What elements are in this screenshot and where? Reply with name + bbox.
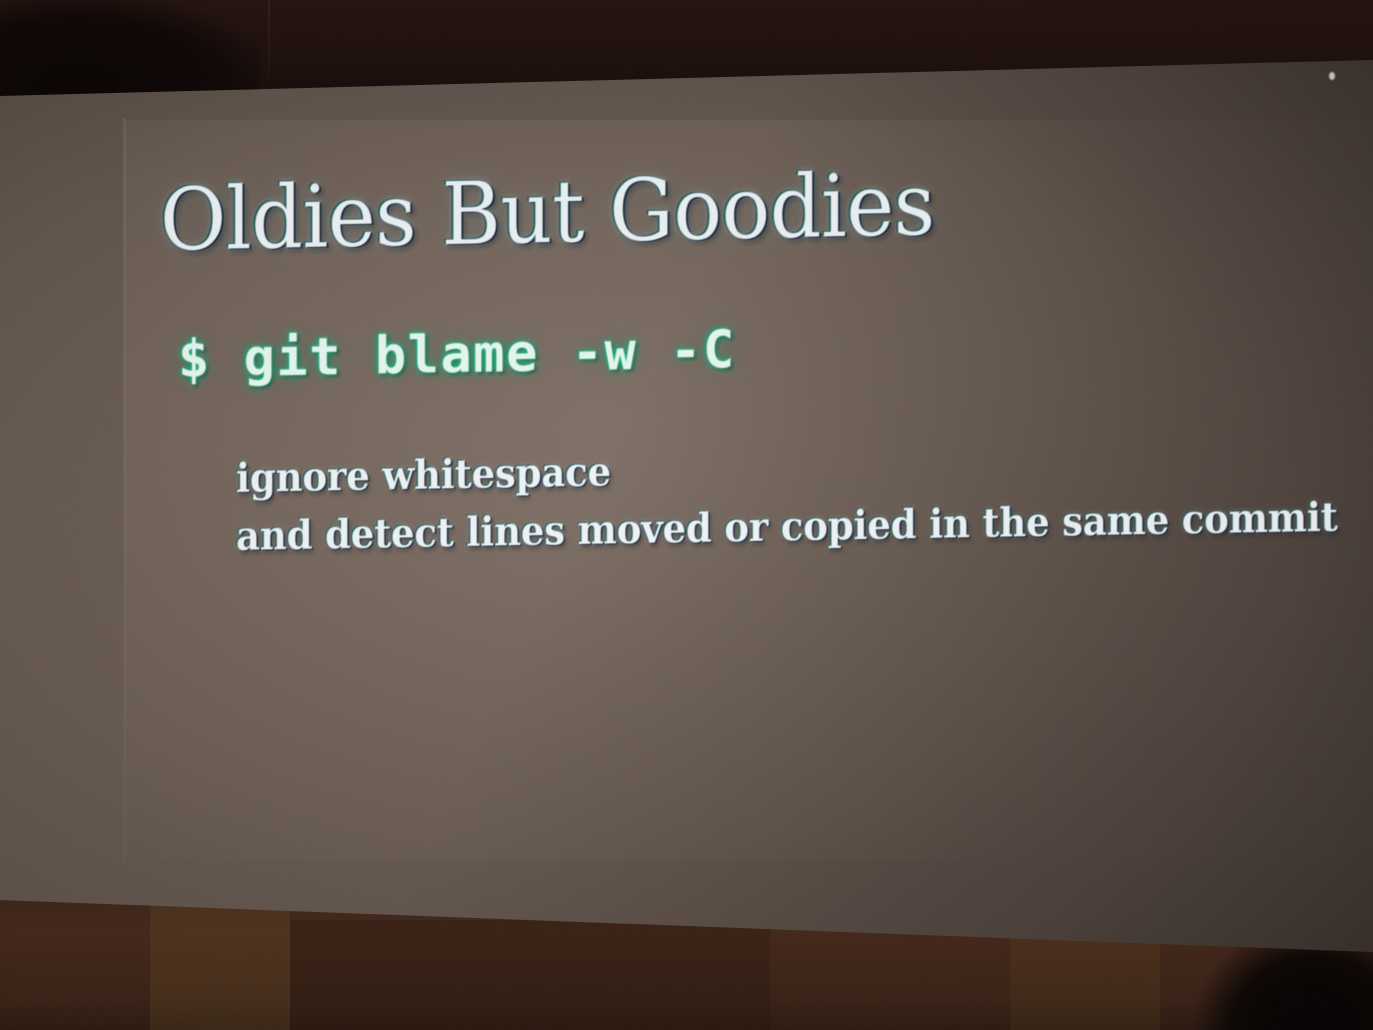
projected-slide-area [125,120,1373,860]
sensor-hot-pixel [1329,72,1335,80]
slide-photograph: Oldies But Goodies $ git blame -w -C ign… [0,0,1373,1030]
projected-slide-left-edge [123,118,126,864]
screen-vignette [0,0,1373,1030]
wall-panel-seam [268,0,270,96]
wall-panel-dark-center [290,920,770,1030]
projection-screen [0,0,1373,1030]
